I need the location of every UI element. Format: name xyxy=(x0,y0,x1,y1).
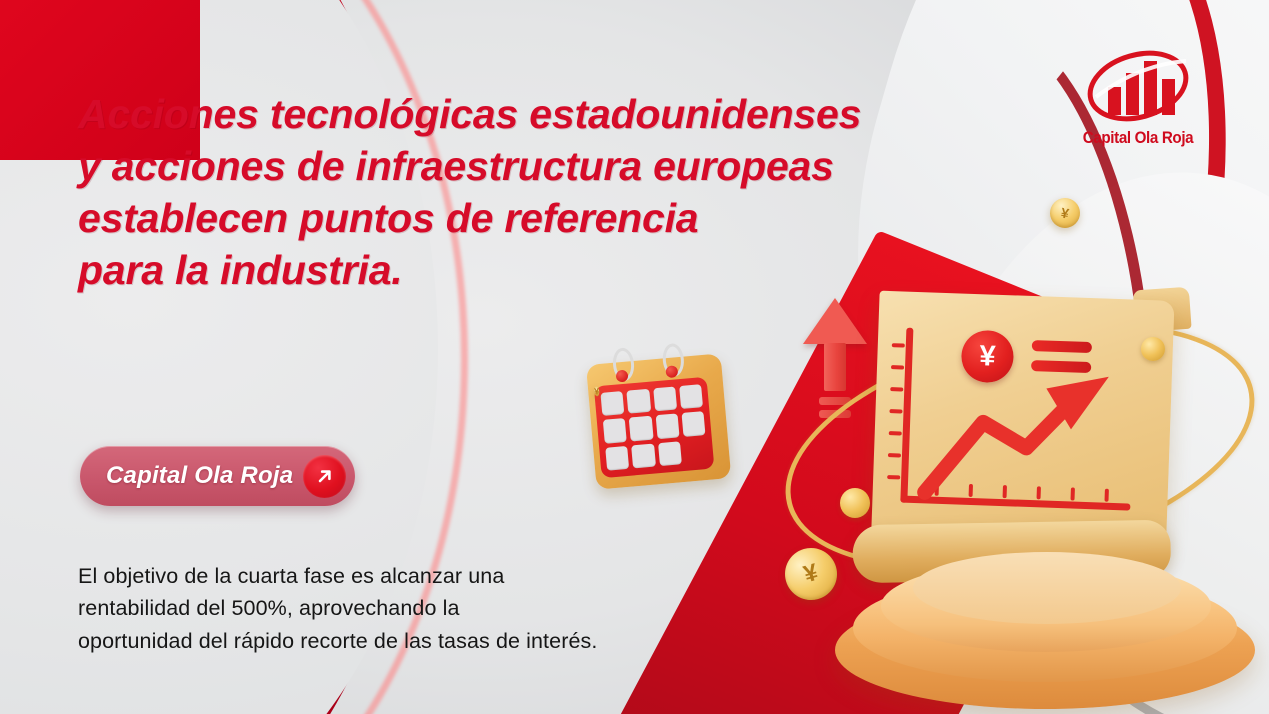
headline-line-4: para la industria. xyxy=(78,244,1008,296)
scroll-paper: ¥ xyxy=(871,291,1175,551)
brand-logo-name: Capital Ola Roja xyxy=(1074,129,1203,148)
calendar-cell xyxy=(631,443,655,468)
gold-podium-3d xyxy=(835,546,1255,711)
calendar-cell xyxy=(605,446,629,471)
body-copy: El objetivo de la cuarta fase es alcanza… xyxy=(78,560,778,657)
headline-line-1: Acciones tecnológicas estadounidenses xyxy=(78,88,1008,140)
calendar-cell xyxy=(653,386,677,411)
calendar-cell xyxy=(681,411,705,436)
arrow-stem xyxy=(824,343,846,391)
promo-banner: ¥ ¥ xyxy=(0,0,1269,714)
body-line-1: El objetivo de la cuarta fase es alcanza… xyxy=(78,560,778,592)
arrow-head xyxy=(803,298,867,344)
calendar-cell xyxy=(600,391,624,416)
orbit-bead xyxy=(1141,337,1165,361)
headline-line-3: establecen puntos de referencia xyxy=(78,192,1008,244)
calendar-cell xyxy=(655,414,679,439)
calendar-cell xyxy=(627,389,651,414)
orbit-bead xyxy=(840,488,870,518)
page-title: Acciones tecnológicas estadounidenses y … xyxy=(78,88,1008,296)
calendar-grid: ¥ xyxy=(594,377,715,478)
gold-scroll-chart: ¥ xyxy=(870,273,1190,584)
calendar-yen-coin: ¥ xyxy=(594,386,600,396)
calendar-cell xyxy=(629,416,653,441)
calendar-cell xyxy=(679,384,703,409)
calendar-cell xyxy=(657,441,681,466)
body-line-2: rentabilidad del 500%, aprovechando la xyxy=(78,592,778,624)
bar-chart-ellipse-logo-icon xyxy=(1082,45,1194,127)
calendar-3d-icon: ¥ xyxy=(579,339,740,501)
body-line-3: oportunidad del rápido recorte de las ta… xyxy=(78,625,778,657)
podium-tier xyxy=(913,552,1181,624)
cta-button-label: Capital Ola Roja xyxy=(106,462,303,490)
arrow-up-right-icon[interactable] xyxy=(303,455,346,498)
cta-button[interactable]: Capital Ola Roja xyxy=(80,446,355,506)
chart-trend-line xyxy=(871,291,1175,551)
calendar-cell xyxy=(603,418,627,443)
brand-logo[interactable]: Capital Ola Roja xyxy=(1068,45,1208,165)
headline-line-2: y acciones de infraestructura europeas xyxy=(78,140,1008,192)
